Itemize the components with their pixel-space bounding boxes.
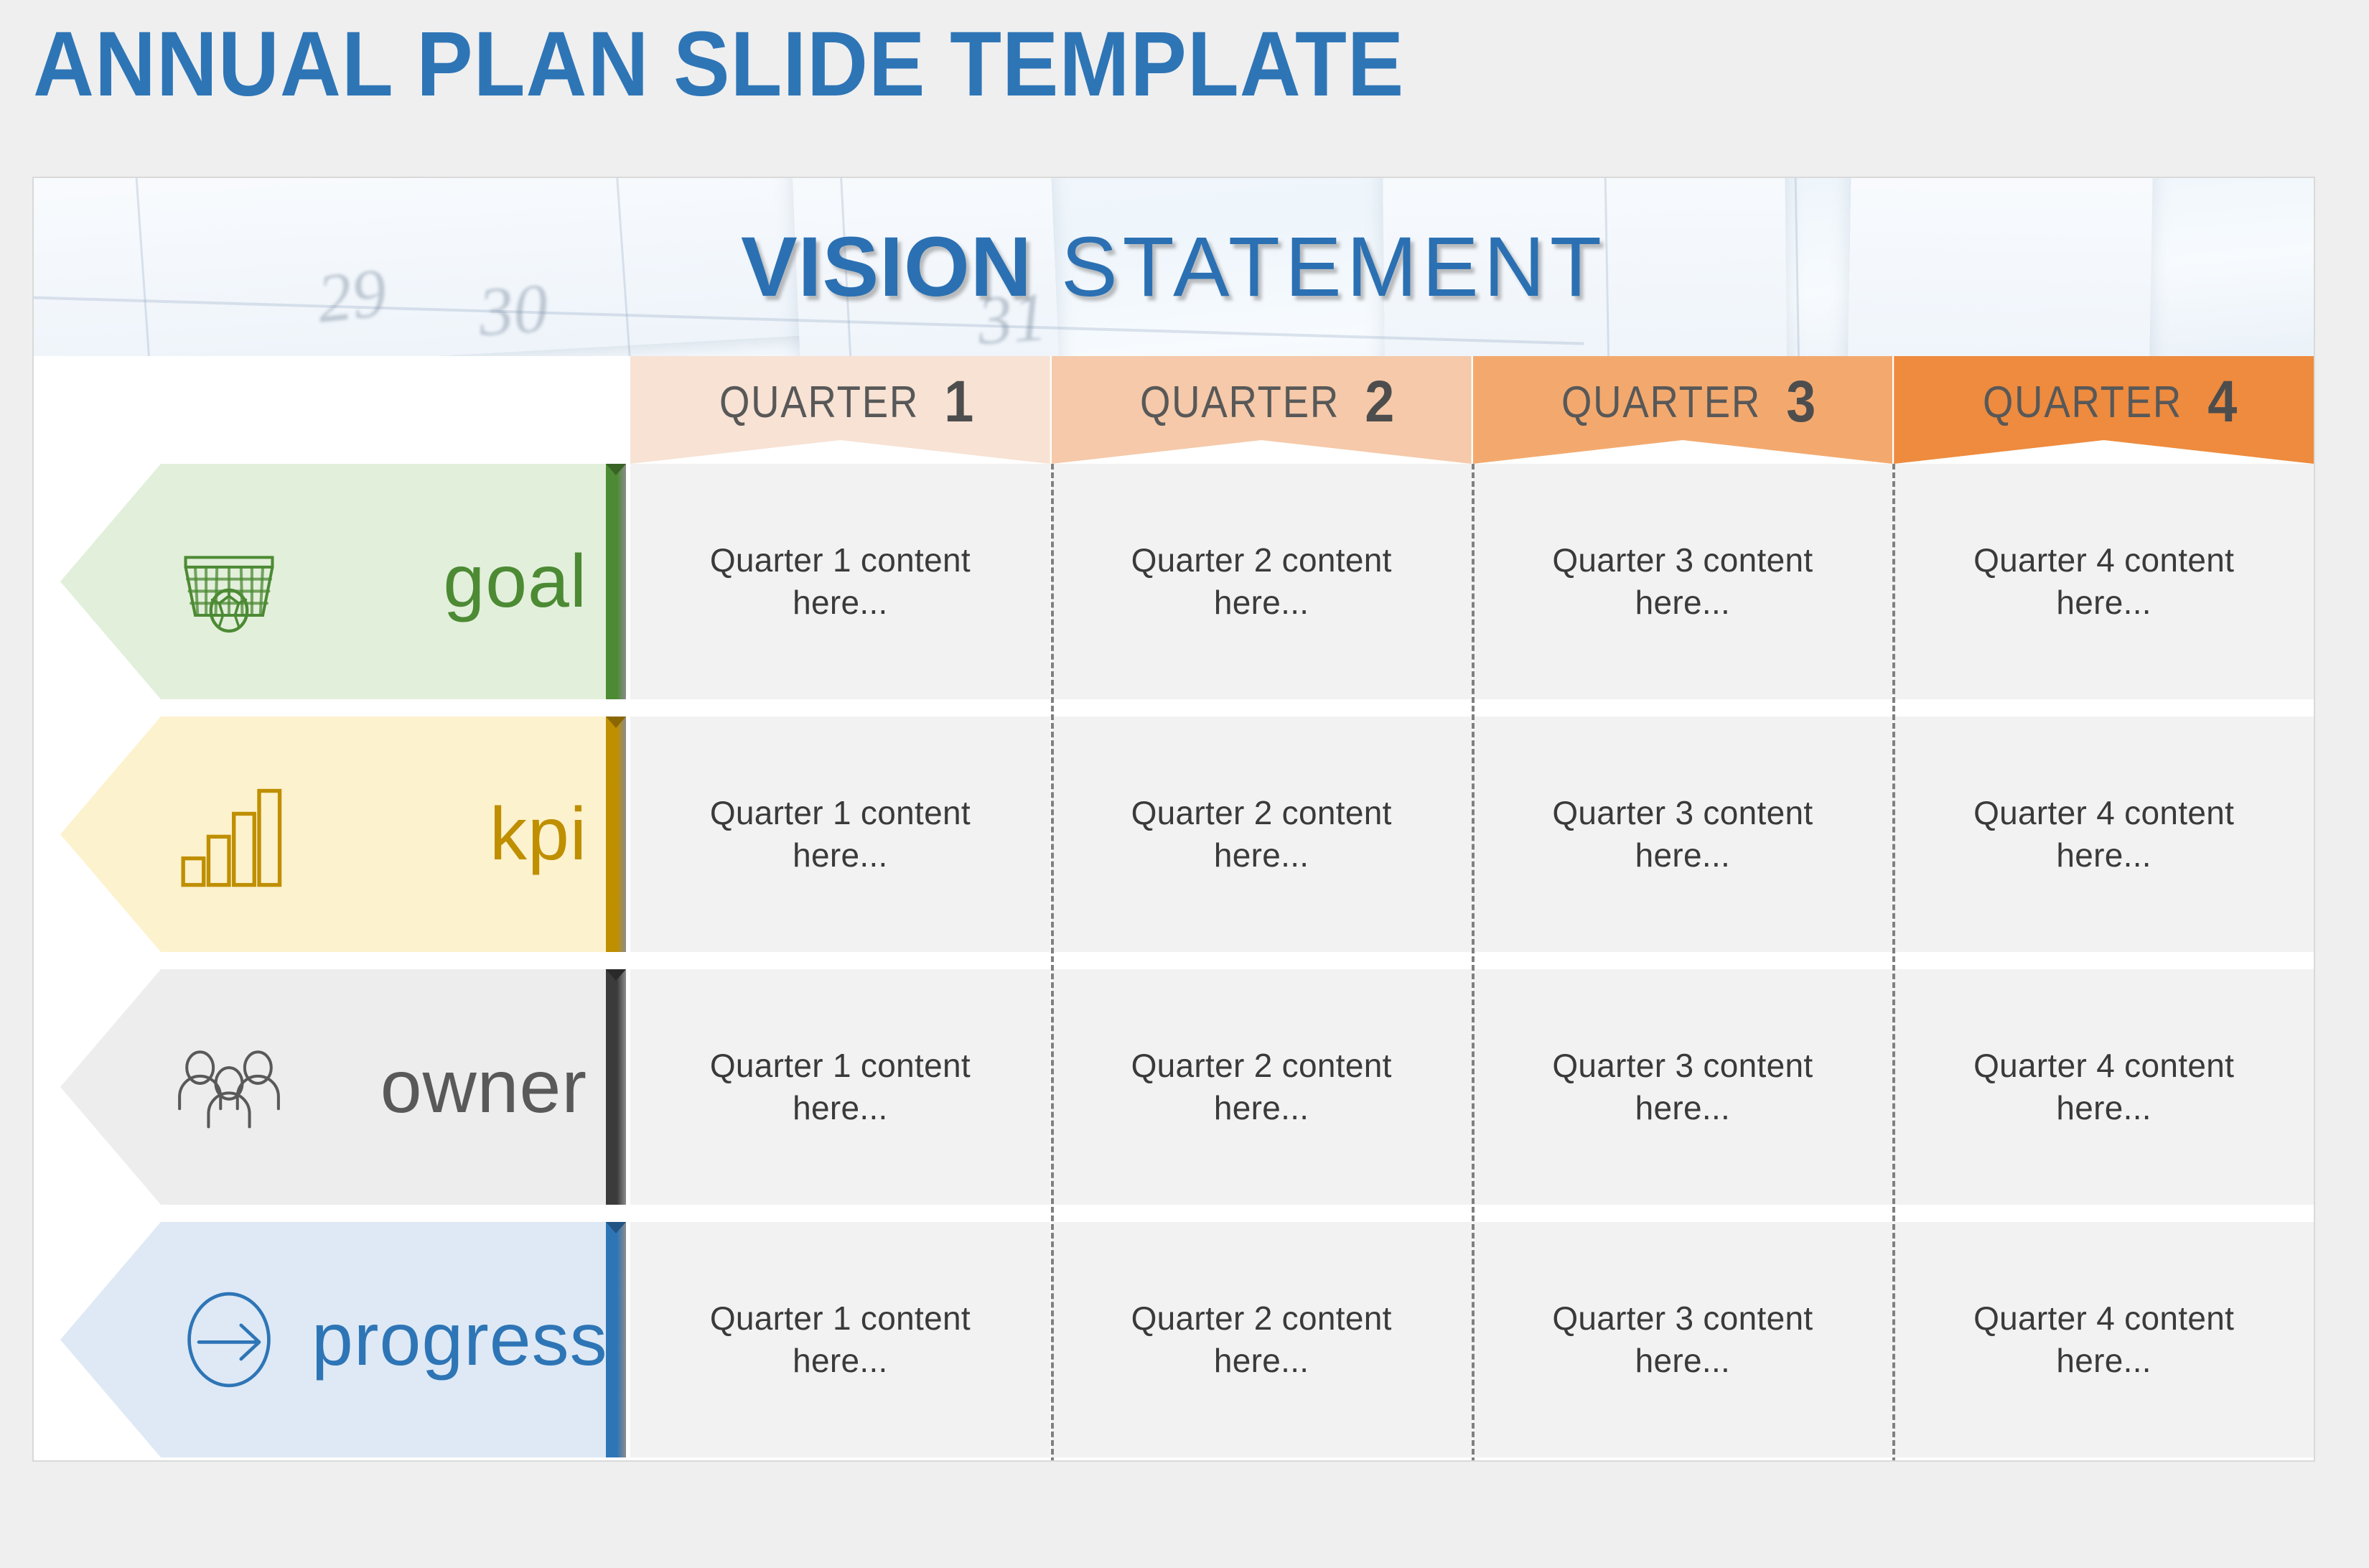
page-title: ANNUAL PLAN SLIDE TEMPLATE [33,19,1404,111]
row-label-goal[interactable]: goal [60,464,606,699]
vision-statement-title: VISIONSTATEMENT [34,178,2314,356]
row-accent-bevel [606,969,626,981]
row-cells-progress: Quarter 1 content here... Quarter 2 cont… [630,1222,2314,1457]
cell-progress-q3[interactable]: Quarter 3 content here... [1473,1222,1893,1457]
vision-word: VISION [741,218,1032,316]
quarter-label: QUARTER [1140,377,1340,428]
row-accent-bevel [606,717,626,728]
quarter-header-row: QUARTER 1 QUARTER 2 QUARTER 3 QUARTER 4 [630,356,2314,464]
cell-text: Quarter 4 content here... [1928,792,2279,877]
cell-owner-q3[interactable]: Quarter 3 content here... [1473,969,1893,1205]
cell-text: Quarter 2 content here... [1086,539,1437,624]
cell-progress-q4[interactable]: Quarter 4 content here... [1894,1222,2314,1457]
quarter-label: QUARTER [1983,377,2182,428]
cell-kpi-q1[interactable]: Quarter 1 content here... [630,717,1050,952]
quarter-number: 1 [944,375,973,429]
statement-word: STATEMENT [1061,218,1607,316]
row-label-text: goal [312,544,606,619]
cell-goal-q4[interactable]: Quarter 4 content here... [1894,464,2314,699]
cell-text: Quarter 4 content here... [1928,1297,2279,1382]
cell-text: Quarter 3 content here... [1508,792,1859,877]
quarter-header-2[interactable]: QUARTER 2 [1052,356,1472,464]
table-row: kpi Quarter 1 content here... Quarter 2 … [34,717,2315,952]
table-row: goal Quarter 1 content here... Quarter 2… [34,464,2315,699]
cell-text: Quarter 1 content here... [665,539,1016,624]
circle-arrow-right-icon [146,1279,312,1400]
quarter-number: 3 [1786,375,1816,429]
quarter-header-3[interactable]: QUARTER 3 [1473,356,1893,464]
row-label-kpi[interactable]: kpi [60,717,606,952]
table-row: progress Quarter 1 content here... Quart… [34,1222,2315,1457]
cell-kpi-q4[interactable]: Quarter 4 content here... [1894,717,2314,952]
cell-progress-q1[interactable]: Quarter 1 content here... [630,1222,1050,1457]
people-group-icon [146,1027,312,1147]
cell-owner-q2[interactable]: Quarter 2 content here... [1052,969,1472,1205]
cell-goal-q3[interactable]: Quarter 3 content here... [1473,464,1893,699]
cell-goal-q2[interactable]: Quarter 2 content here... [1052,464,1472,699]
cell-progress-q2[interactable]: Quarter 2 content here... [1052,1222,1472,1457]
table-row: owner Quarter 1 content here... Quarter … [34,969,2315,1205]
cell-owner-q4[interactable]: Quarter 4 content here... [1894,969,2314,1205]
plan-grid: QUARTER 1 QUARTER 2 QUARTER 3 QUARTER 4 [34,356,2315,1462]
row-label-text: progress [312,1302,627,1377]
row-label-text: kpi [312,797,606,872]
cell-kpi-q2[interactable]: Quarter 2 content here... [1052,717,1472,952]
cell-text: Quarter 4 content here... [1928,1045,2279,1129]
cell-text: Quarter 2 content here... [1086,1297,1437,1382]
plan-rows: goal Quarter 1 content here... Quarter 2… [34,464,2315,1457]
cell-text: Quarter 4 content here... [1928,539,2279,624]
slide-card: 29 30 31 VISIONSTATEMENT QUARTER 1 QUART… [32,177,2315,1462]
soccer-goal-icon [146,521,312,642]
quarter-label: QUARTER [719,377,919,428]
cell-text: Quarter 1 content here... [665,792,1016,877]
quarter-number: 2 [1365,375,1395,429]
quarter-number: 4 [2207,375,2237,429]
row-accent-bevel [606,464,626,475]
cell-text: Quarter 2 content here... [1086,792,1437,877]
cell-owner-q1[interactable]: Quarter 1 content here... [630,969,1050,1205]
row-cells-owner: Quarter 1 content here... Quarter 2 cont… [630,969,2314,1205]
bar-chart-icon [146,774,312,895]
row-accent-bevel [606,1222,626,1233]
quarter-label: QUARTER [1561,377,1761,428]
cell-goal-q1[interactable]: Quarter 1 content here... [630,464,1050,699]
cell-text: Quarter 3 content here... [1508,539,1859,624]
row-label-text: owner [312,1050,606,1124]
row-label-owner[interactable]: owner [60,969,606,1205]
cell-text: Quarter 2 content here... [1086,1045,1437,1129]
cell-text: Quarter 3 content here... [1508,1045,1859,1129]
row-accent-bar-progress [606,1222,626,1457]
cell-kpi-q3[interactable]: Quarter 3 content here... [1473,717,1893,952]
cell-text: Quarter 1 content here... [665,1297,1016,1382]
row-accent-bar-owner [606,969,626,1205]
row-accent-bar-goal [606,464,626,699]
vision-hero-band: 29 30 31 VISIONSTATEMENT [34,178,2314,356]
quarter-header-1[interactable]: QUARTER 1 [630,356,1050,464]
row-cells-kpi: Quarter 1 content here... Quarter 2 cont… [630,717,2314,952]
quarter-header-4[interactable]: QUARTER 4 [1894,356,2314,464]
cell-text: Quarter 1 content here... [665,1045,1016,1129]
row-cells-goal: Quarter 1 content here... Quarter 2 cont… [630,464,2314,699]
cell-text: Quarter 3 content here... [1508,1297,1859,1382]
row-accent-bar-kpi [606,717,626,952]
row-label-progress[interactable]: progress [60,1222,606,1457]
